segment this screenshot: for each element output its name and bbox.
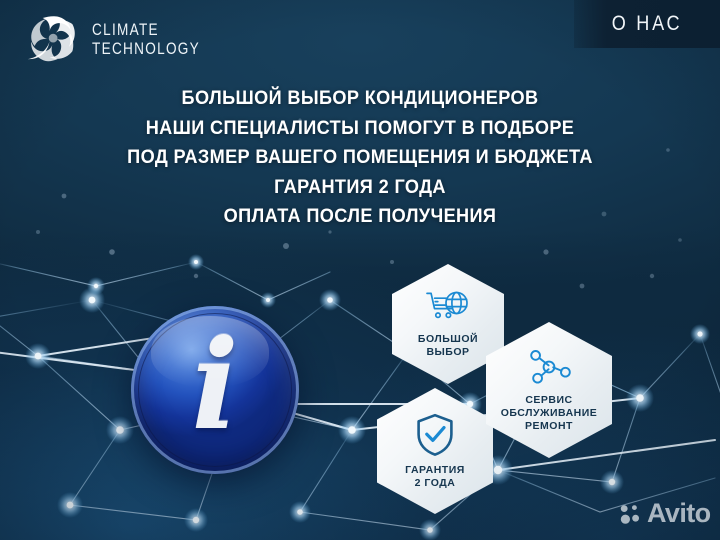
feature-service-line3: РЕМОНТ xyxy=(501,420,598,433)
feature-hex-choice-label: БОЛЬШОЙ ВЫБОР xyxy=(418,333,478,359)
feature-choice-line2: ВЫБОР xyxy=(418,346,478,359)
avito-wordmark: Avito xyxy=(647,500,711,527)
promo-banner: О НАС CLIMATE TECHNOLOGY БОЛЬШОЙ ВЫБОР К… xyxy=(0,0,720,540)
headline-line-2: НАШИ СПЕЦИАЛИСТЫ ПОМОГУТ В ПОДБОРЕ xyxy=(25,114,695,144)
about-title: О НАС xyxy=(584,0,710,48)
headline-line-1: БОЛЬШОЙ ВЫБОР КОНДИЦИОНЕРОВ xyxy=(25,84,695,114)
headline-line-5: ОПЛАТА ПОСЛЕ ПОЛУЧЕНИЯ xyxy=(25,202,695,232)
info-glyph: i xyxy=(131,306,299,474)
information-circle-icon: i xyxy=(131,306,299,474)
feature-service-line2: ОБСЛУЖИВАНИЕ xyxy=(501,407,598,420)
brand-logo-line2: TECHNOLOGY xyxy=(92,39,200,58)
feature-warranty-line2: 2 ГОДА xyxy=(405,477,465,490)
headline-line-4: ГАРАНТИЯ 2 ГОДА xyxy=(25,173,695,203)
avito-watermark: Avito xyxy=(618,500,711,527)
feature-hex-service-label: СЕРВИС ОБСЛУЖИВАНИЕ РЕМОНТ xyxy=(501,394,598,433)
brand-logo-line1: CLIMATE xyxy=(92,20,200,39)
headline-line-3: ПОД РАЗМЕР ВАШЕГО ПОМЕЩЕНИЯ И БЮДЖЕТА xyxy=(25,143,695,173)
feature-service-line1: СЕРВИС xyxy=(501,394,598,407)
shopping-cart-globe-icon xyxy=(425,290,471,326)
feature-hex-warranty-label: ГАРАНТИЯ 2 ГОДА xyxy=(405,464,465,490)
brand-logo[interactable]: CLIMATE TECHNOLOGY xyxy=(26,11,227,67)
shield-check-icon xyxy=(415,413,455,457)
headline-block: БОЛЬШОЙ ВЫБОР КОНДИЦИОНЕРОВ НАШИ СПЕЦИАЛ… xyxy=(0,84,720,232)
brand-logo-text: CLIMATE TECHNOLOGY xyxy=(92,20,200,58)
avito-dots-icon xyxy=(618,502,642,526)
fan-spiral-logo-icon xyxy=(26,11,82,67)
feature-choice-line1: БОЛЬШОЙ xyxy=(418,333,478,346)
bokeh-particles xyxy=(0,0,720,540)
network-nodes-icon xyxy=(526,348,572,386)
feature-warranty-line1: ГАРАНТИЯ xyxy=(405,464,465,477)
